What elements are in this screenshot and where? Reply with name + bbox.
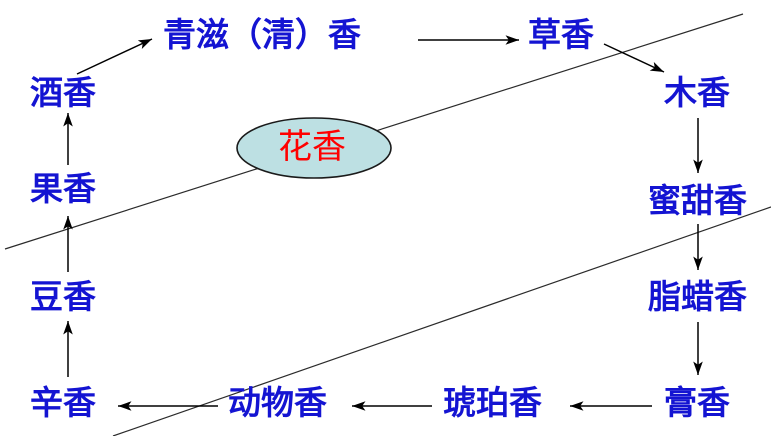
node-caoxiang[interactable]: 草香 (528, 18, 594, 51)
node-dongwuxiang[interactable]: 动物香 (228, 386, 327, 419)
node-gaoxiang[interactable]: 膏香 (664, 386, 730, 419)
center-node-label[interactable]: 花香 (278, 130, 346, 164)
node-muxiang[interactable]: 木香 (664, 76, 730, 109)
node-hupoxiang[interactable]: 琥珀香 (443, 386, 542, 419)
node-jiuxiang[interactable]: 酒香 (30, 76, 96, 109)
node-xinxiang[interactable]: 辛香 (30, 386, 96, 419)
arrow-jiuxiang-to-qingzixiang (77, 39, 152, 74)
node-qingzixiang[interactable]: 青滋（清）香 (163, 18, 361, 51)
node-douxiang[interactable]: 豆香 (30, 280, 96, 313)
node-guoxiang[interactable]: 果香 (30, 172, 96, 205)
node-zhilaxiang[interactable]: 脂蜡香 (648, 280, 747, 313)
node-mitianxiang[interactable]: 蜜甜香 (648, 184, 747, 217)
aroma-type-diagram: 酒香 青滋（清）香 草香 木香 蜜甜香 脂蜡香 膏香 琥珀香 动物香 辛香 豆香… (0, 0, 771, 436)
